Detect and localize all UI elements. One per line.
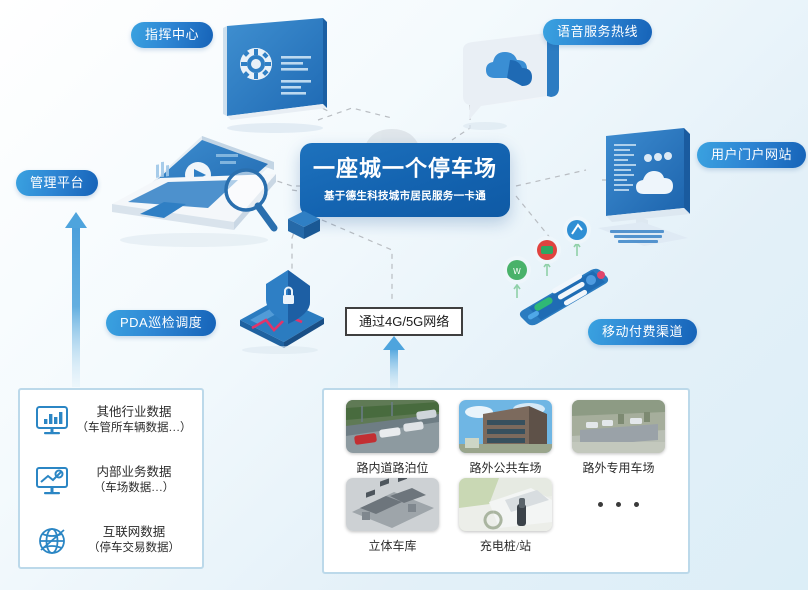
pda-patrol-tablet-icon	[222, 258, 332, 358]
banner-title: 一座城一个停车场	[313, 157, 497, 181]
scene-cell[interactable]: 路内道路泊位	[336, 400, 449, 476]
private-off-street-lot-photo	[572, 400, 665, 453]
multi-level-garage-photo	[346, 478, 439, 531]
more-dots-icon	[562, 478, 675, 531]
scene-cell[interactable]: 充电桩/站	[449, 478, 562, 554]
infographic-canvas: 指挥中心 语音服务热线 一座城一个停车场 基于德生科技城市居民服务一卡通	[0, 0, 808, 590]
on-street-parking-photo	[346, 400, 439, 453]
parking-scenes-panel: 路内道路泊位	[322, 388, 690, 574]
central-banner: 一座城一个停车场 基于德生科技城市居民服务一卡通	[300, 143, 510, 217]
label-voice-hotline[interactable]: 语音服务热线	[543, 19, 652, 45]
data-source-row[interactable]: 其他行业数据 （车管所车辆数据…）	[20, 390, 202, 450]
bar-chart-monitor-icon	[30, 405, 74, 435]
management-laptop-icon	[98, 128, 298, 253]
public-off-street-lot-photo	[459, 400, 552, 453]
scene-label: 路内道路泊位	[336, 459, 449, 476]
data-source-note: （车管所车辆数据…）	[74, 421, 194, 437]
scene-cell[interactable]: 立体车库	[336, 478, 449, 554]
scene-cell-more	[562, 478, 675, 554]
data-source-title: 互联网数据	[74, 524, 194, 541]
label-pda-patrol[interactable]: PDA巡检调度	[106, 310, 216, 336]
svg-text:W: W	[513, 267, 521, 276]
globe-network-icon	[30, 524, 74, 556]
scene-label: 路外公共车场	[449, 459, 562, 476]
scene-cell[interactable]: 路外专用车场	[562, 400, 675, 476]
scene-label: 立体车库	[336, 537, 449, 554]
banner-subtitle: 基于德生科技城市居民服务一卡通	[324, 188, 486, 203]
data-flow-up-arrow-icon	[64, 212, 88, 387]
data-source-row[interactable]: 互联网数据 （停车交易数据）	[20, 510, 202, 570]
data-source-title: 内部业务数据	[74, 464, 194, 481]
scene-label: 充电桩/站	[449, 537, 562, 554]
label-mobile-payment[interactable]: 移动付费渠道	[588, 319, 697, 345]
network-box: 通过4G/5G网络	[345, 307, 463, 336]
label-management-platform[interactable]: 管理平台	[16, 170, 98, 196]
label-command-center[interactable]: 指挥中心	[131, 22, 213, 48]
data-source-title: 其他行业数据	[74, 404, 194, 421]
label-user-portal[interactable]: 用户门户网站	[697, 142, 806, 168]
scene-cell[interactable]: 路外公共车场	[449, 400, 562, 476]
ev-charging-station-photo	[459, 478, 552, 531]
network-up-arrow-icon	[382, 336, 406, 388]
scene-label: 路外专用车场	[562, 459, 675, 476]
data-sources-panel: 其他行业数据 （车管所车辆数据…） 内部业务数据 （车场数据…）	[18, 388, 204, 569]
data-source-note: （车场数据…）	[74, 481, 194, 497]
line-chart-monitor-icon	[30, 465, 74, 495]
data-source-row[interactable]: 内部业务数据 （车场数据…）	[20, 450, 202, 510]
data-source-note: （停车交易数据）	[74, 541, 194, 557]
